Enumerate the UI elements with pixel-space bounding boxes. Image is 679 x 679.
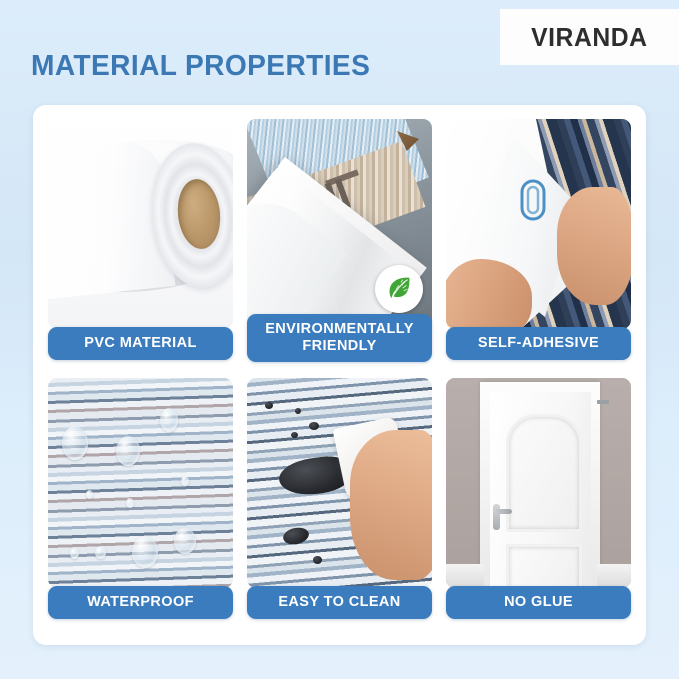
paperclip-badge — [516, 177, 550, 228]
baseboard-left — [446, 564, 484, 588]
water-droplet — [95, 546, 106, 559]
feature-label-waterproof: WATERPROOF — [48, 586, 233, 619]
water-droplet — [174, 528, 196, 554]
brand-logo: VIRANDA — [500, 9, 679, 65]
feature-label-line1: ENVIRONMENTALLY — [251, 321, 428, 338]
feature-grid: PVC MATERIAL — [48, 119, 631, 625]
water-droplet — [86, 490, 93, 499]
feature-tile-pvc-material[interactable]: PVC MATERIAL — [48, 119, 233, 366]
stain-mark — [309, 422, 319, 430]
brand-logo-text: VIRANDA — [531, 22, 648, 53]
baseboard-right — [597, 564, 631, 588]
door-hinge — [597, 400, 609, 404]
water-droplet — [116, 436, 140, 466]
leaf-badge — [375, 265, 423, 313]
environmentally-friendly-image — [247, 119, 432, 329]
self-adhesive-image — [446, 119, 631, 329]
door-panel-top — [506, 414, 582, 532]
water-droplet — [70, 548, 79, 559]
door-handle — [493, 504, 500, 530]
waterproof-image — [48, 378, 233, 588]
feature-tile-waterproof[interactable]: WATERPROOF — [48, 378, 233, 625]
feature-label-line2: FRIENDLY — [251, 338, 428, 355]
pvc-material-image — [48, 119, 233, 329]
feature-label-self-adhesive: SELF-ADHESIVE — [446, 327, 631, 360]
stain-mark — [291, 432, 298, 438]
wall-right — [597, 378, 631, 588]
cleaning-hand — [350, 430, 432, 580]
water-droplet — [132, 536, 158, 568]
right-hand — [557, 187, 631, 305]
feature-tile-no-glue[interactable]: NO GLUE — [446, 378, 631, 625]
stain-mark — [295, 408, 301, 414]
door-panel-bottom — [506, 544, 582, 588]
leaf-icon — [384, 274, 414, 304]
feature-label-easy-to-clean: EASY TO CLEAN — [247, 586, 432, 619]
feature-label-environmentally-friendly: ENVIRONMENTALLY FRIENDLY — [247, 314, 432, 362]
paperclip-icon — [516, 177, 550, 223]
wall-left — [446, 378, 484, 588]
page-header: MATERIAL PROPERTIES VIRANDA — [0, 0, 679, 105]
feature-tile-easy-to-clean[interactable]: EASY TO CLEAN — [247, 378, 432, 625]
easy-to-clean-image — [247, 378, 432, 588]
door-handle-lever — [495, 509, 512, 514]
feature-tile-self-adhesive[interactable]: SELF-ADHESIVE — [446, 119, 631, 366]
water-droplet — [62, 426, 88, 460]
feature-card: PVC MATERIAL — [33, 105, 646, 645]
page-title: MATERIAL PROPERTIES — [31, 50, 370, 83]
stain-mark — [313, 556, 322, 564]
water-droplet — [181, 476, 189, 486]
water-droplet — [160, 408, 178, 432]
feature-tile-environmentally-friendly[interactable]: ENVIRONMENTALLY FRIENDLY — [247, 119, 432, 366]
stain-mark — [265, 402, 273, 409]
water-droplet — [126, 498, 134, 508]
no-glue-image — [446, 378, 631, 588]
feature-label-pvc-material: PVC MATERIAL — [48, 327, 233, 360]
feature-label-no-glue: NO GLUE — [446, 586, 631, 619]
